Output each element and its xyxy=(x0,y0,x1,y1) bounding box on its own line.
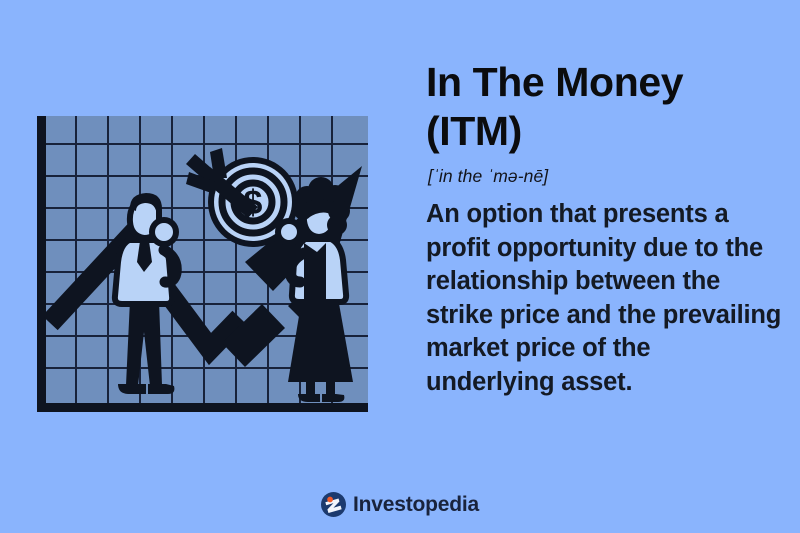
man-phone xyxy=(152,220,176,244)
woman-phone xyxy=(278,221,300,243)
pronunciation: [ˈin the ˈmə-nē] xyxy=(428,165,782,187)
investopedia-logo-icon xyxy=(321,492,346,517)
investopedia-logo[interactable]: Investopedia xyxy=(0,492,800,517)
definition-text: An option that presents a profit opportu… xyxy=(426,198,782,399)
stock-chart-target-illustration: $ xyxy=(26,110,386,422)
definition-card: $ xyxy=(0,0,800,533)
definition-text-column: In The Money (ITM) [ˈin the ˈmə-nē] An o… xyxy=(426,58,782,399)
investopedia-logo-text: Investopedia xyxy=(353,494,479,515)
page-title: In The Money (ITM) xyxy=(426,58,782,156)
